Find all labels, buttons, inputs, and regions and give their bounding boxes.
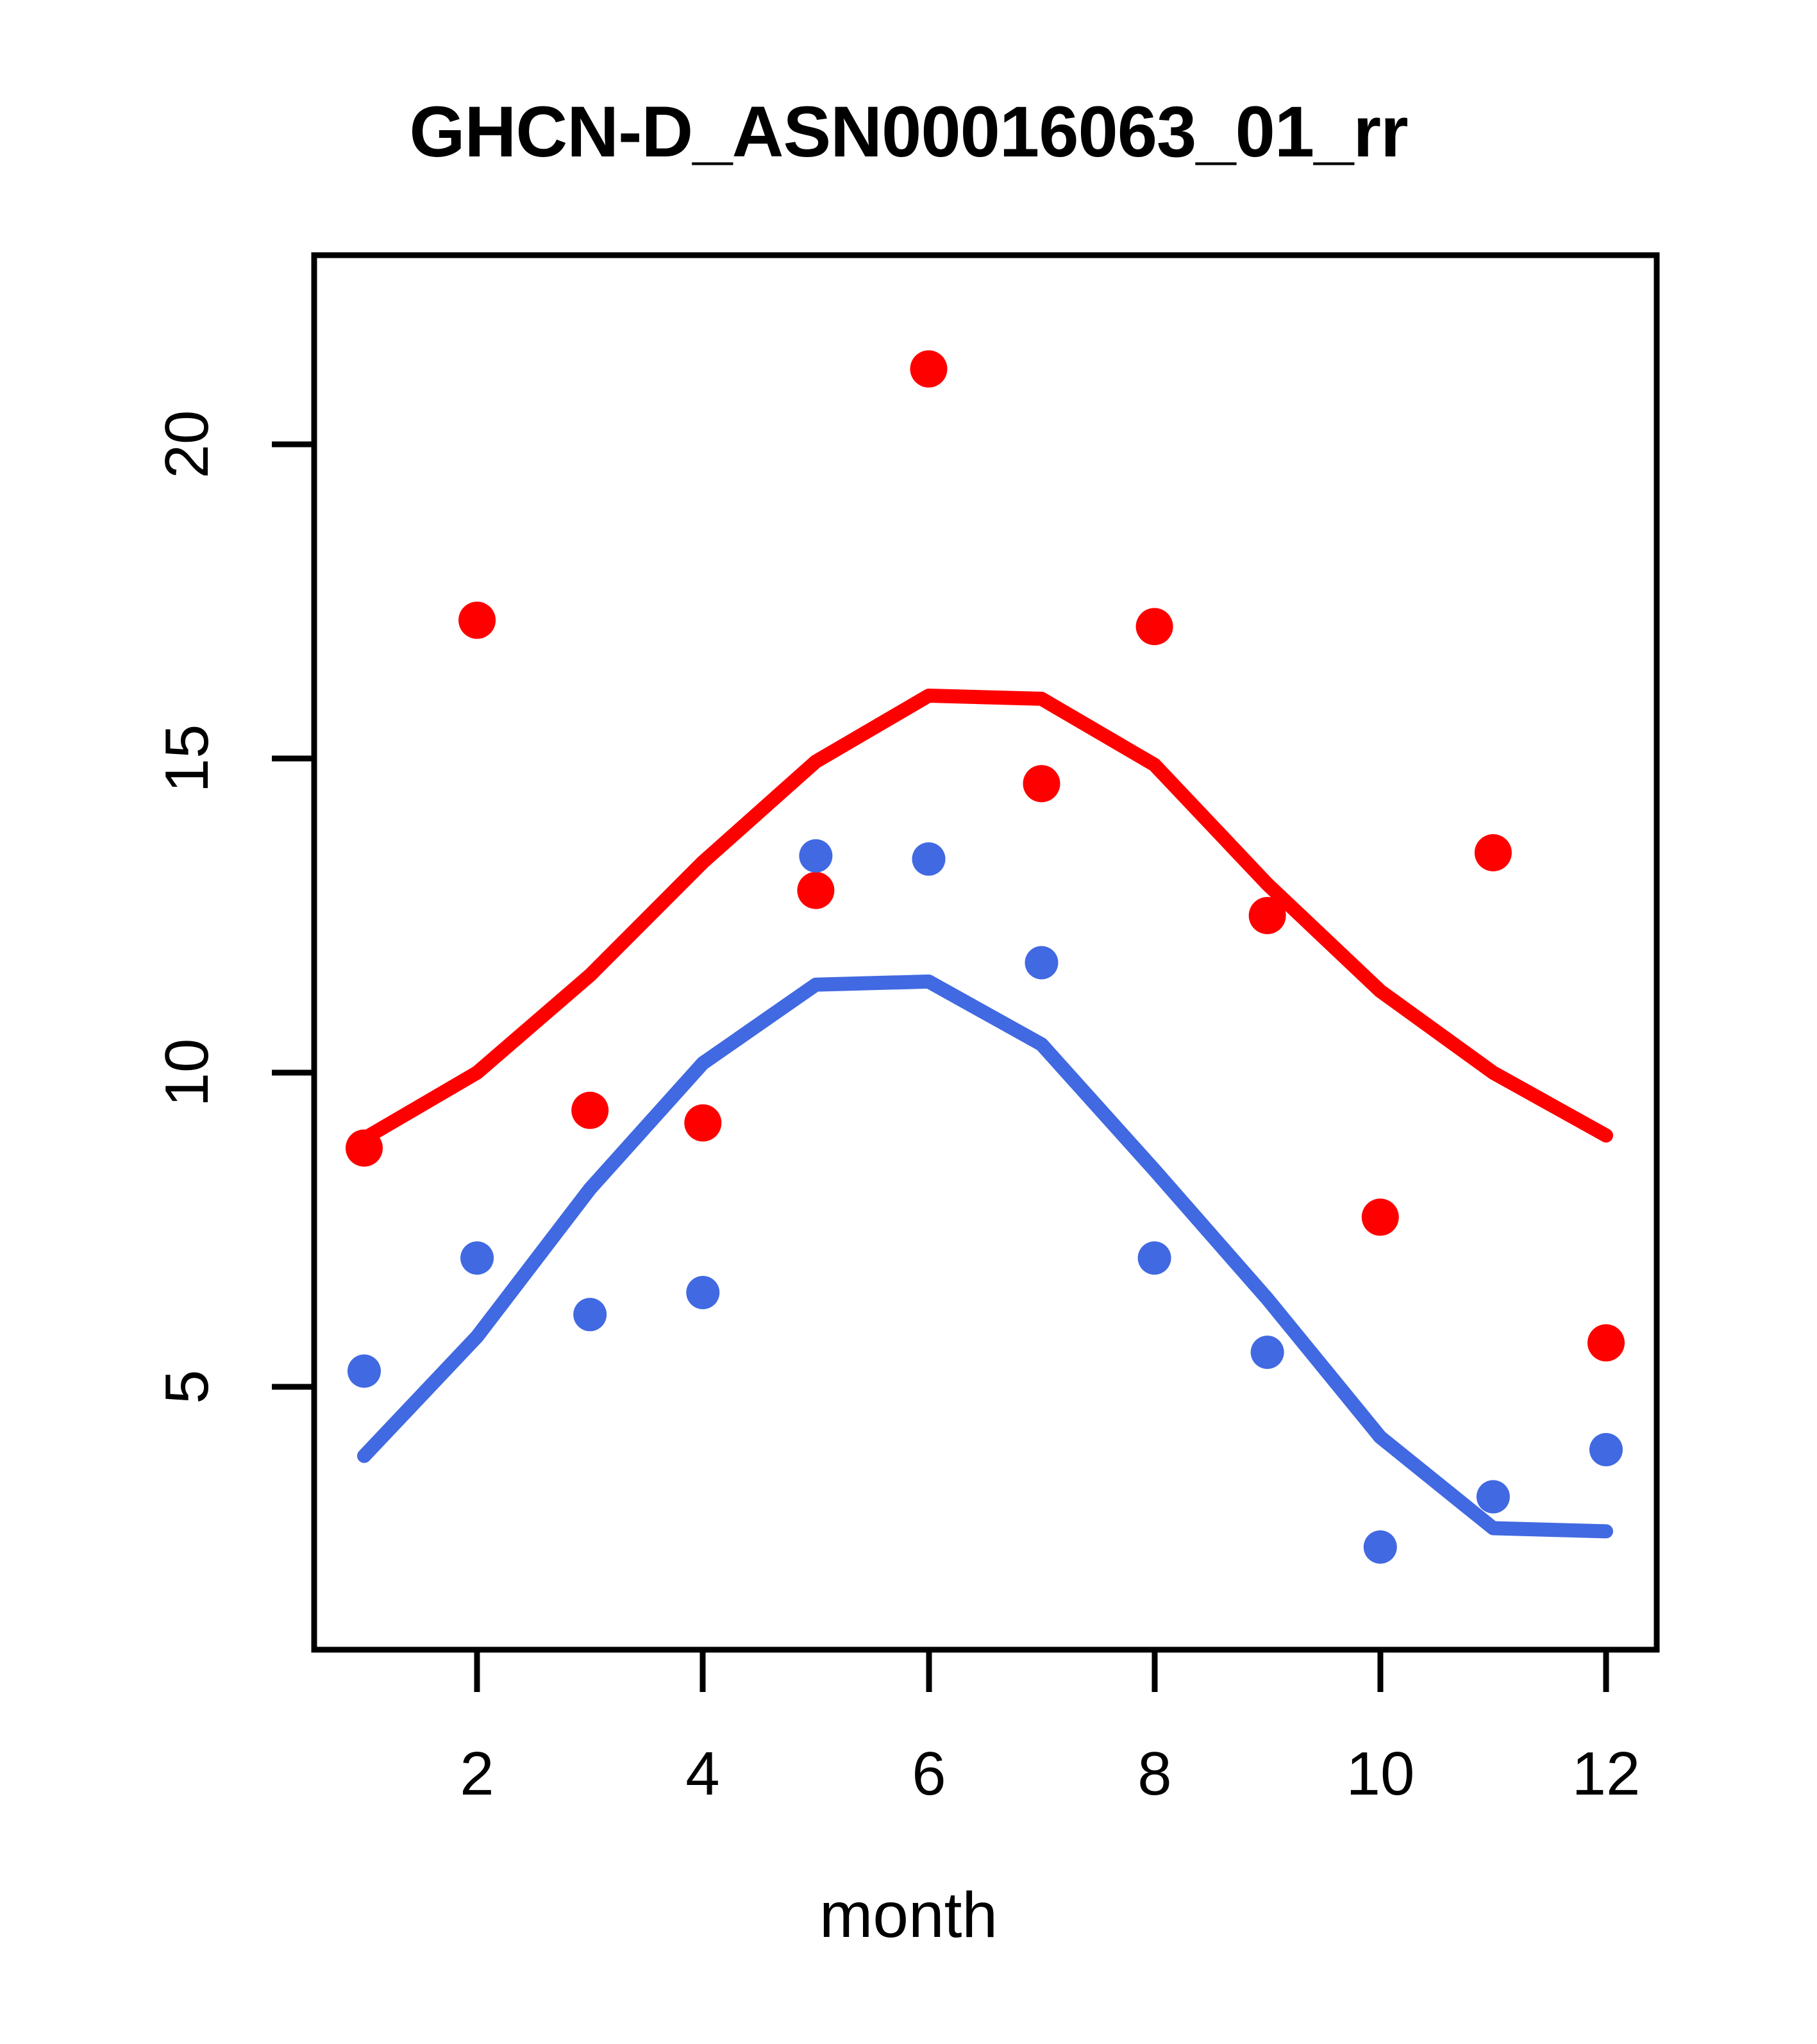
data-point bbox=[1362, 1198, 1399, 1236]
x-tick-label-2: 2 bbox=[460, 1739, 494, 1809]
chart-figure: GHCN-D_ASN00016063_01_rr 20 15 10 5 bbox=[0, 0, 1817, 2044]
data-layer bbox=[346, 350, 1625, 1563]
x-axis-label: month bbox=[0, 1879, 1817, 1952]
data-point bbox=[1138, 1241, 1171, 1275]
data-point bbox=[1136, 608, 1173, 645]
data-point bbox=[1023, 765, 1060, 802]
data-point bbox=[686, 1276, 719, 1309]
data-point bbox=[799, 839, 832, 873]
data-point bbox=[1251, 1336, 1284, 1369]
data-point bbox=[1587, 1324, 1625, 1361]
data-point bbox=[460, 1241, 494, 1275]
data-point bbox=[1475, 834, 1512, 871]
x-tick-label-10: 10 bbox=[1346, 1739, 1415, 1809]
data-point bbox=[1249, 897, 1286, 934]
data-point bbox=[1025, 946, 1059, 980]
plot-frame bbox=[314, 255, 1657, 1650]
data-point bbox=[797, 872, 834, 909]
x-tick-label-6: 6 bbox=[912, 1739, 946, 1809]
plot-canvas bbox=[0, 0, 1817, 2044]
x-tick-label-12: 12 bbox=[1572, 1739, 1641, 1809]
data-point bbox=[347, 1355, 381, 1388]
data-point bbox=[458, 601, 496, 639]
data-point bbox=[910, 350, 948, 387]
series-blue-points bbox=[347, 839, 1623, 1564]
data-point bbox=[571, 1092, 608, 1129]
x-tick-label-4: 4 bbox=[685, 1739, 719, 1809]
data-point bbox=[912, 842, 946, 876]
y-tick-label-15: 15 bbox=[152, 725, 222, 793]
x-axis-ticks bbox=[477, 1650, 1606, 1692]
series-red-line bbox=[364, 696, 1606, 1139]
data-point bbox=[346, 1130, 383, 1167]
series-red-points bbox=[346, 350, 1625, 1361]
data-point bbox=[1477, 1480, 1510, 1514]
data-point bbox=[684, 1104, 721, 1141]
y-axis-ticks bbox=[272, 444, 314, 1387]
data-point bbox=[1589, 1433, 1623, 1466]
y-tick-label-5: 5 bbox=[152, 1370, 222, 1403]
data-point bbox=[1364, 1530, 1397, 1564]
y-tick-label-20: 20 bbox=[152, 410, 222, 479]
series-blue-line bbox=[364, 982, 1606, 1531]
x-tick-label-8: 8 bbox=[1137, 1739, 1171, 1809]
y-tick-label-10: 10 bbox=[152, 1039, 222, 1107]
data-point bbox=[573, 1298, 607, 1331]
